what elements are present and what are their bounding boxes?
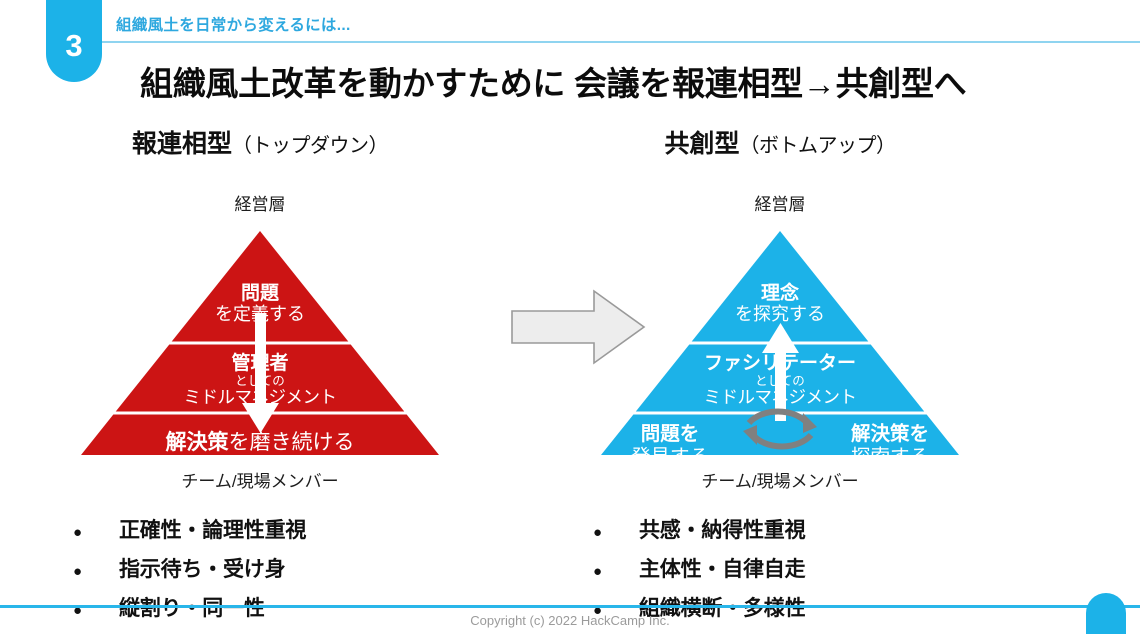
- slide-canvas: 3 組織風土を日常から変えるには... 組織風土改革を動かすために 会議を報連相…: [0, 0, 1140, 634]
- right-bullet-1: 共感・納得性重視: [639, 514, 805, 544]
- left-bullet-1: 正確性・論理性重視: [119, 514, 306, 544]
- right-heading-sub: （ボトムアップ）: [740, 135, 896, 157]
- list-item: ● 正確性・論理性重視: [73, 514, 495, 544]
- slide-eyebrow: 組織風土を日常から変えるには...: [116, 13, 351, 35]
- left-caption-bottom: チーム/現場メンバー: [25, 467, 495, 492]
- bullet-dot-icon: ●: [593, 564, 639, 579]
- right-caption-top: 経営層: [545, 190, 1015, 215]
- left-pyramid-graphic: [77, 227, 443, 459]
- slide-number: 3: [65, 28, 82, 64]
- right-tier-3-right-strong: 解決策を: [851, 423, 929, 446]
- bullet-dot-icon: ●: [593, 525, 639, 540]
- right-tier-3: 問題を 発見する 解決策を 探索する: [597, 423, 963, 469]
- left-column-heading: 報連相型（トップダウン）: [25, 124, 495, 160]
- list-item: ● 主体性・自律自走: [593, 553, 1015, 583]
- left-caption-top: 経営層: [25, 190, 495, 215]
- page-title: 組織風土改革を動かすために 会議を報連相型→共創型へ: [140, 57, 966, 105]
- right-caption-bottom: チーム/現場メンバー: [545, 467, 1015, 492]
- header-divider: [102, 41, 1140, 43]
- right-pyramid: 理念 を探究する ファシリテーター としての ミドルマネジメント 問題を 発見す…: [597, 227, 963, 459]
- right-tier-3-right-light: 探索する: [851, 446, 929, 469]
- list-item: ● 指示待ち・受け身: [73, 553, 495, 583]
- right-column: 共創型（ボトムアップ） 経営層: [545, 124, 1015, 631]
- footer-divider: [0, 605, 1140, 608]
- right-tier-3-right: 解決策を 探索する: [851, 423, 929, 469]
- right-column-heading: 共創型（ボトムアップ）: [545, 124, 1015, 160]
- slide-number-badge: 3: [46, 0, 102, 82]
- left-pyramid: 問題 を定義する 管理者 としての ミドルマネジメント 解決策を磨き続ける: [77, 227, 443, 459]
- left-bullet-2: 指示待ち・受け身: [119, 553, 285, 583]
- right-bullet-2: 主体性・自律自走: [639, 553, 805, 583]
- left-column: 報連相型（トップダウン） 経営層 問題 を定義する 管理者: [25, 124, 495, 631]
- footer-copyright: Copyright (c) 2022 HackCamp Inc.: [0, 613, 1140, 628]
- right-heading-main: 共創型: [664, 130, 739, 158]
- right-tier-3-left: 問題を 発見する: [631, 423, 709, 469]
- left-heading-main: 報連相型: [132, 130, 232, 158]
- bullet-dot-icon: ●: [73, 525, 119, 540]
- right-tier-3-left-strong: 問題を: [631, 423, 709, 446]
- right-tier-3-left-light: 発見する: [631, 446, 709, 469]
- list-item: ● 共感・納得性重視: [593, 514, 1015, 544]
- corner-decoration: [1086, 593, 1126, 634]
- left-heading-sub: （トップダウン）: [232, 135, 388, 157]
- bullet-dot-icon: ●: [73, 564, 119, 579]
